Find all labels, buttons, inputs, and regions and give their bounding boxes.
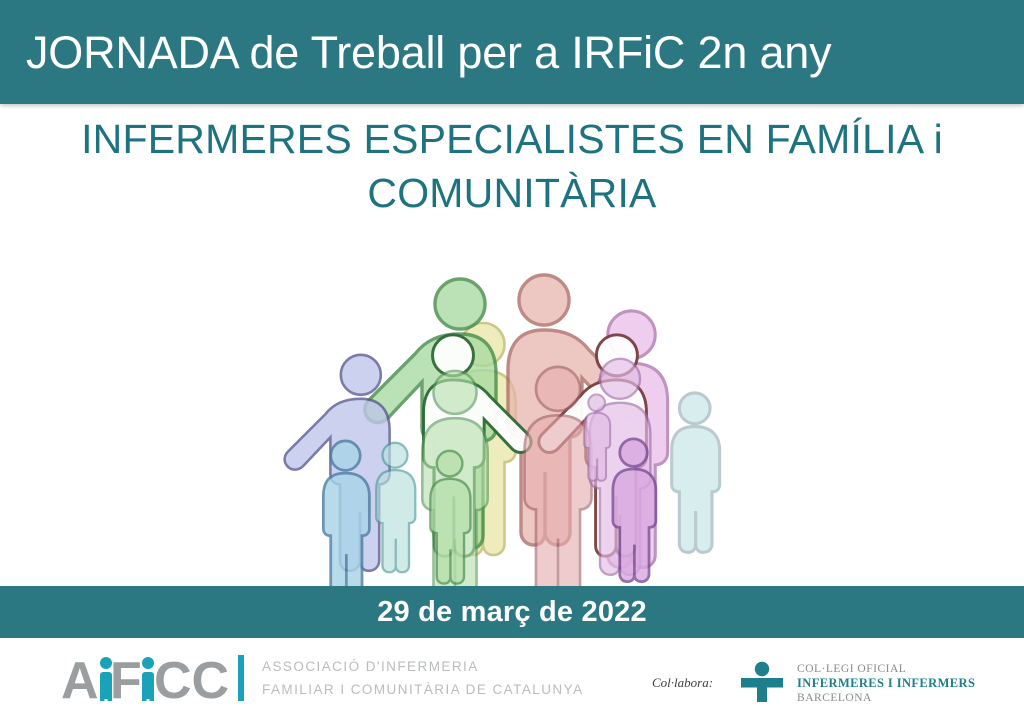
subtitle-block: INFERMERES ESPECIALISTES EN FAMÍLIA i CO… bbox=[0, 112, 1024, 220]
aificc-wordmark: A F CC bbox=[62, 650, 230, 706]
aificc-divider bbox=[238, 655, 244, 701]
coib-cross-icon bbox=[739, 660, 785, 706]
header-bar: JORNADA de Treball per a IRFiC 2n any bbox=[0, 0, 1024, 104]
aificc-tagline-line-1: ASSOCIACIÓ D'INFERMERIA bbox=[262, 659, 584, 674]
coib-line-1: COL·LEGI OFICIAL bbox=[797, 663, 975, 675]
person-dot-2 bbox=[142, 657, 154, 669]
coib-cross-graphic bbox=[739, 660, 785, 706]
family-illustration bbox=[262, 262, 767, 592]
subtitle-line-1: INFERMERES ESPECIALISTES EN FAMÍLIA i bbox=[0, 112, 1024, 166]
figure-paleblue-child-right bbox=[672, 393, 720, 552]
aificc-tagline: ASSOCIACIÓ D'INFERMERIA FAMILIAR I COMUN… bbox=[262, 659, 584, 697]
page-title: JORNADA de Treball per a IRFiC 2n any bbox=[26, 30, 831, 75]
aificc-tagline-line-2: FAMILIAR I COMUNITÀRIA DE CATALUNYA bbox=[262, 682, 584, 697]
svg-text:F: F bbox=[110, 652, 142, 706]
aificc-logo-block: A F CC ASS bbox=[62, 650, 584, 706]
coib-logo: COL·LEGI OFICIAL INFERMERES I INFERMERS … bbox=[739, 660, 975, 706]
collaborator-block: Col·labora: COL·LEGI OFICIAL INFERMERES … bbox=[652, 660, 975, 706]
aificc-wordmark-graphic: A F CC bbox=[62, 650, 230, 706]
pictogram-group-graphic bbox=[262, 262, 767, 592]
poster-canvas: JORNADA de Treball per a IRFiC 2n any IN… bbox=[0, 0, 1024, 723]
coib-line-2: INFERMERES I INFERMERS bbox=[797, 676, 975, 691]
collaborator-label: Col·labora: bbox=[652, 675, 713, 691]
event-date: 29 de març de 2022 bbox=[377, 596, 647, 629]
coib-line-3: BARCELONA bbox=[797, 692, 975, 704]
subtitle-line-2: COMUNITÀRIA bbox=[0, 166, 1024, 220]
svg-text:A: A bbox=[62, 652, 99, 706]
footer: A F CC ASS bbox=[0, 638, 1024, 723]
coib-text-block: COL·LEGI OFICIAL INFERMERES I INFERMERS … bbox=[797, 663, 975, 704]
date-bar: 29 de març de 2022 bbox=[0, 586, 1024, 638]
svg-text:CC: CC bbox=[154, 652, 229, 706]
